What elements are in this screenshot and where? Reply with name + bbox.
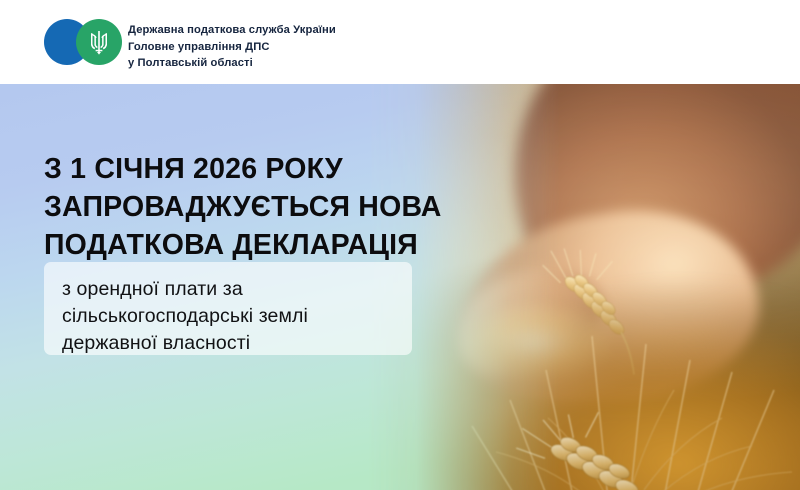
org-line-1: Державна податкова служба України	[128, 22, 528, 39]
org-line-3: у Полтавській області	[128, 55, 528, 72]
trident-icon	[88, 29, 110, 55]
headline-line-1: З 1 СІЧНЯ 2026 РОКУ	[44, 150, 514, 188]
subtitle-text: з орендної плати за сільськогосподарські…	[62, 276, 394, 357]
headline-line-3: ПОДАТКОВА ДЕКЛАРАЦІЯ	[44, 226, 514, 264]
dps-logo	[44, 19, 122, 65]
subtitle-line-2: сільськогосподарські землі	[62, 303, 394, 330]
organization-name: Державна податкова служба України Головн…	[128, 22, 528, 72]
org-line-2: Головне управління ДПС	[128, 39, 528, 56]
subtitle-line-1: з орендної плати за	[62, 276, 394, 303]
banner-root: Державна податкова служба України Головн…	[0, 0, 800, 490]
subtitle-line-3: державної власності	[62, 330, 394, 357]
headline-line-2: ЗАПРОВАДЖУЄТЬСЯ НОВА	[44, 188, 514, 226]
hero-section: З 1 СІЧНЯ 2026 РОКУ ЗАПРОВАДЖУЄТЬСЯ НОВА…	[0, 84, 800, 490]
header-bar: Державна податкова служба України Головн…	[0, 0, 800, 84]
subtitle-panel: з орендної плати за сільськогосподарські…	[44, 262, 412, 355]
page-title: З 1 СІЧНЯ 2026 РОКУ ЗАПРОВАДЖУЄТЬСЯ НОВА…	[44, 150, 514, 264]
